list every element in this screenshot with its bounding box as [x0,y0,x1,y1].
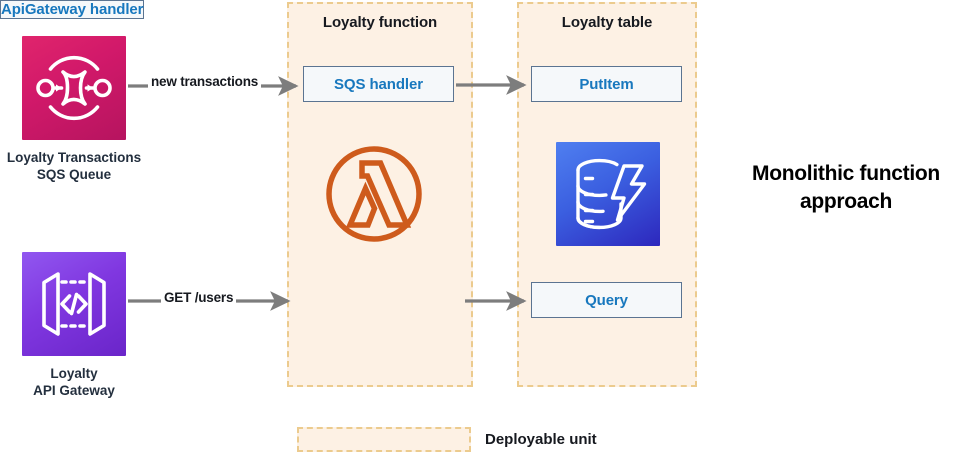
connector-label-new-transactions: new transactions [148,74,261,89]
service-caption-apigw: Loyalty API Gateway [0,365,149,399]
legend-swatch-deployable-unit [297,427,471,452]
aws-sqs-icon [22,36,126,140]
service-caption-sqs-line2: SQS Queue [0,166,149,183]
diagram-canvas: Loyalty function Loyalty table [0,0,975,459]
service-caption-sqs-line1: Loyalty Transactions [0,149,149,166]
service-loyalty-transactions-sqs-queue: Loyalty Transactions SQS Queue [22,36,149,183]
aws-api-gateway-icon [22,252,126,356]
approach-title: Monolithic function approach [717,160,975,216]
service-loyalty-api-gateway: Loyalty API Gateway [22,252,149,399]
service-caption-apigw-line2: API Gateway [0,382,149,399]
service-caption-apigw-line1: Loyalty [0,365,149,382]
legend: Deployable unit [297,427,597,452]
connector-label-get-users: GET /users [161,290,236,305]
service-caption-sqs: Loyalty Transactions SQS Queue [0,149,149,183]
legend-label-deployable-unit: Deployable unit [485,431,597,448]
